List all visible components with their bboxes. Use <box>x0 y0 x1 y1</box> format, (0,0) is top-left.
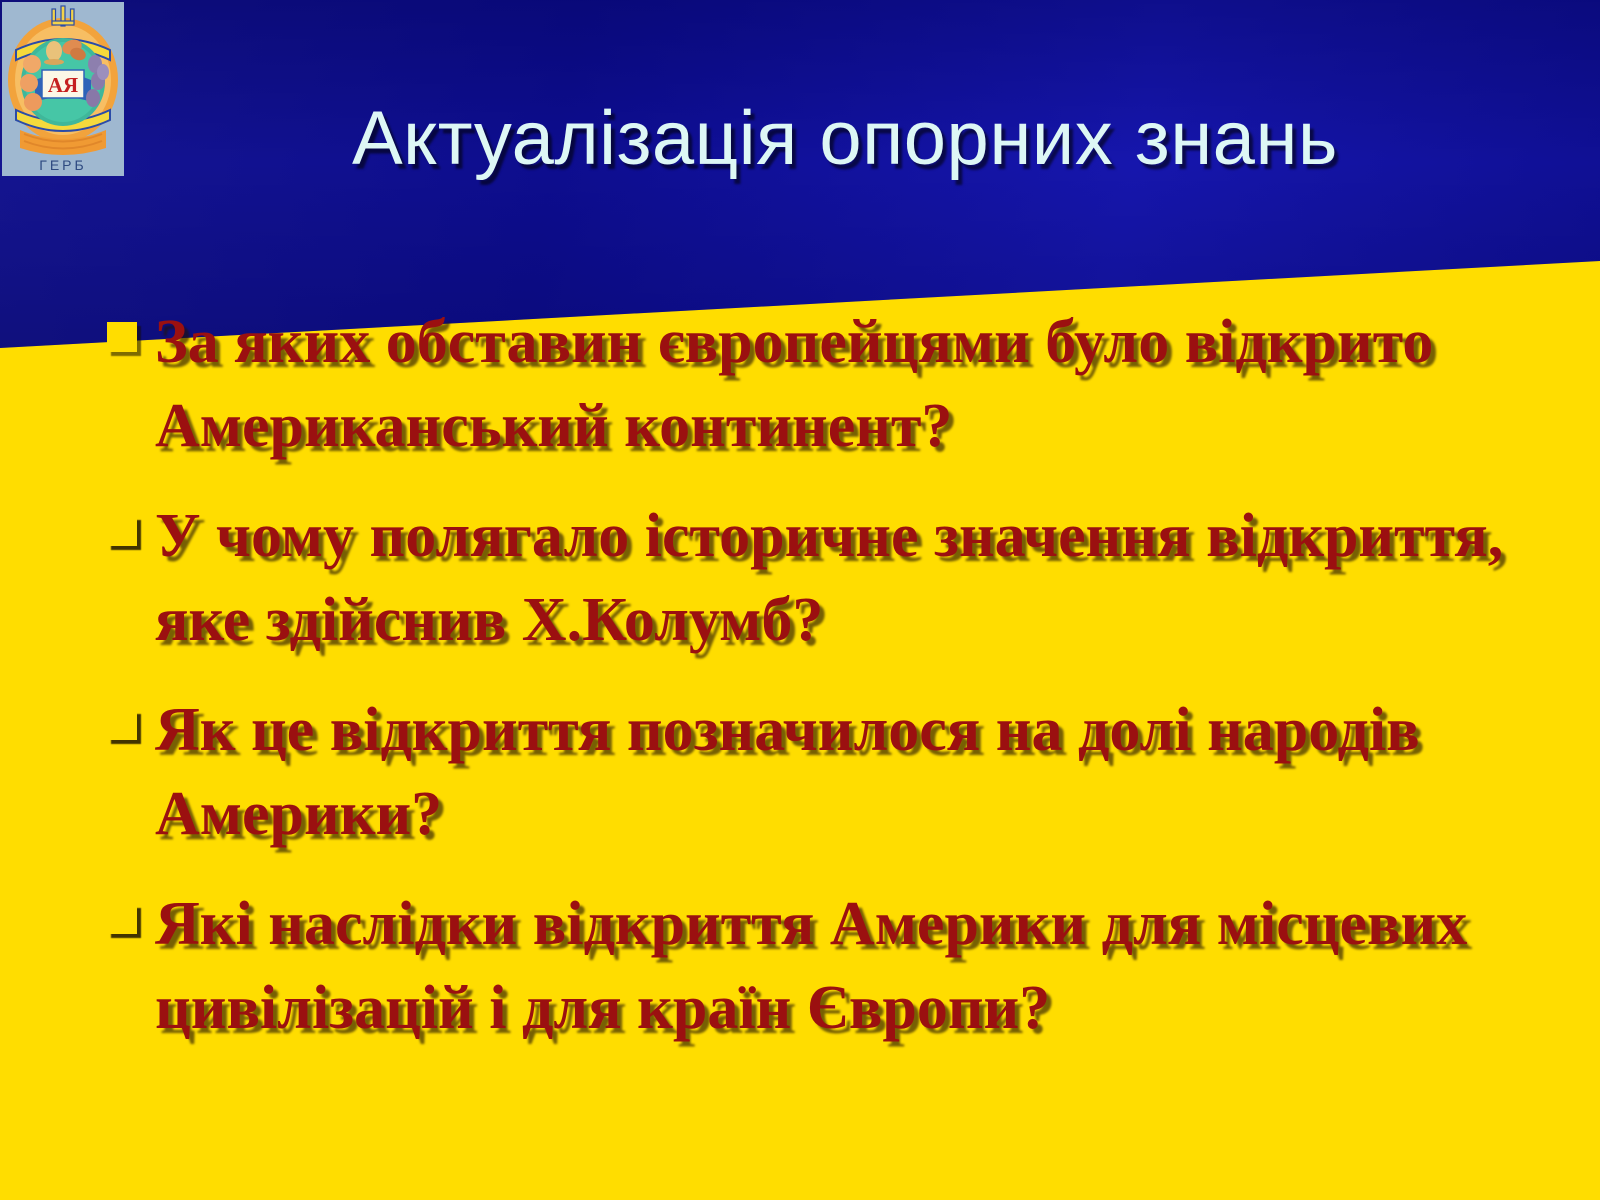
square-bullet-icon <box>107 516 137 546</box>
square-bullet-icon <box>107 710 137 740</box>
list-item-text: У чому полягало історичне значення відкр… <box>155 494 1520 662</box>
list-item-text: За яких обставин європейцями було відкри… <box>155 300 1520 468</box>
emblem-image: АЯ Г <box>2 2 124 176</box>
list-item: У чому полягало історичне значення відкр… <box>100 494 1520 662</box>
list-item: За яких обставин європейцями було відкри… <box>100 300 1520 468</box>
list-item-text: Як це відкриття позначилося на долі наро… <box>155 688 1520 856</box>
list-item: Які наслідки відкриття Америки для місце… <box>100 882 1520 1050</box>
bullet-list: За яких обставин європейцями було відкри… <box>100 300 1520 1076</box>
list-item: Як це відкриття позначилося на долі наро… <box>100 688 1520 856</box>
svg-text:АЯ: АЯ <box>48 73 78 97</box>
slide-title: Актуалізація опорних знань <box>180 96 1510 182</box>
square-bullet-icon <box>107 904 137 934</box>
presentation-slide: АЯ Г <box>0 0 1600 1200</box>
list-item-text: Які наслідки відкриття Америки для місце… <box>155 882 1520 1050</box>
square-bullet-icon <box>107 322 137 352</box>
svg-text:ГЕРБ: ГЕРБ <box>39 157 86 173</box>
